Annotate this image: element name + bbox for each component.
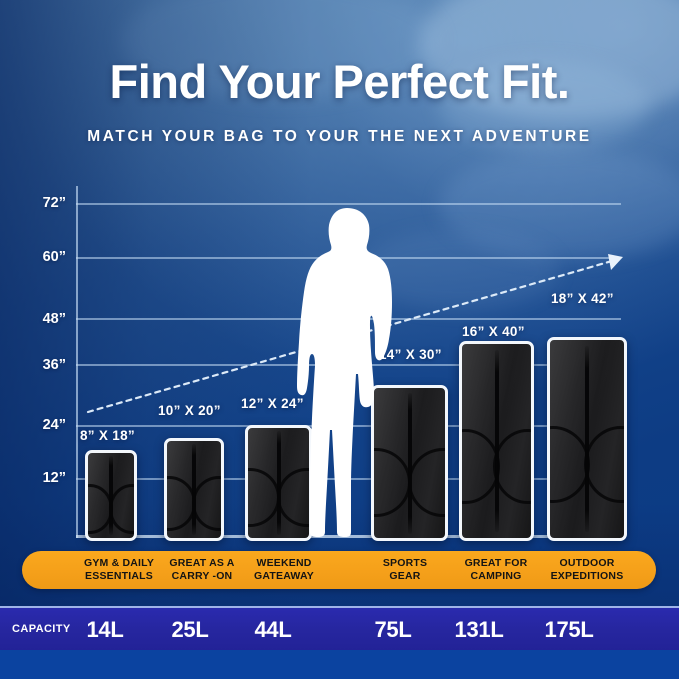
cloud-wisp-icon [439,150,679,260]
bag-spine-icon [408,393,412,534]
bag-spine-icon [585,346,589,532]
bag-size-label-5: 16” X 40” [462,324,525,339]
bag-spine-icon [192,444,196,535]
page-title: Find Your Perfect Fit. [0,58,679,105]
bottom-strip [0,650,679,679]
y-tick-60: 60” [20,249,66,265]
bag-1[interactable] [85,450,137,541]
y-tick-48: 48” [20,311,66,327]
y-tick-72: 72” [20,195,66,211]
bag-6[interactable] [547,337,627,541]
y-tick-12: 12” [20,470,66,486]
bag-spine-icon [277,431,281,534]
use-case-3-line1: WEEKEND [229,557,339,570]
human-silhouette-icon [289,206,401,538]
y-tick-24: 24” [20,417,66,433]
use-case-3: WEEKEND GATEAWAY [229,557,339,583]
y-tick-36: 36” [20,357,66,373]
capacity-value-1: 14L [60,617,150,643]
capacity-strip: CAPACITY 14L 25L 44L 75L 131L 175L [0,606,679,654]
y-axis-line [76,186,78,538]
bag-size-label-2: 10” X 20” [158,403,221,418]
bag-spine-icon [109,456,113,536]
gridline-72 [76,203,621,205]
bag-spine-icon [495,350,499,532]
use-case-pill: GYM & DAILY ESSENTIALS GREAT AS A CARRY … [22,551,656,589]
bag-5[interactable] [459,341,534,541]
capacity-value-2: 25L [145,617,235,643]
bag-size-label-6: 18” X 42” [551,291,614,306]
use-case-6: OUTDOOR EXPEDITIONS [530,557,644,583]
use-case-6-line2: EXPEDITIONS [530,570,644,583]
page-subtitle: MATCH YOUR BAG TO YOUR THE NEXT ADVENTUR… [0,128,679,146]
capacity-value-5: 131L [434,617,524,643]
capacity-value-3: 44L [228,617,318,643]
bag-2[interactable] [164,438,224,541]
capacity-value-4: 75L [348,617,438,643]
bag-size-label-1: 8” X 18” [80,428,135,443]
use-case-3-line2: GATEAWAY [229,570,339,583]
capacity-value-6: 175L [524,617,614,643]
use-case-6-line1: OUTDOOR [530,557,644,570]
infographic-poster: Find Your Perfect Fit. MATCH YOUR BAG TO… [0,0,679,679]
